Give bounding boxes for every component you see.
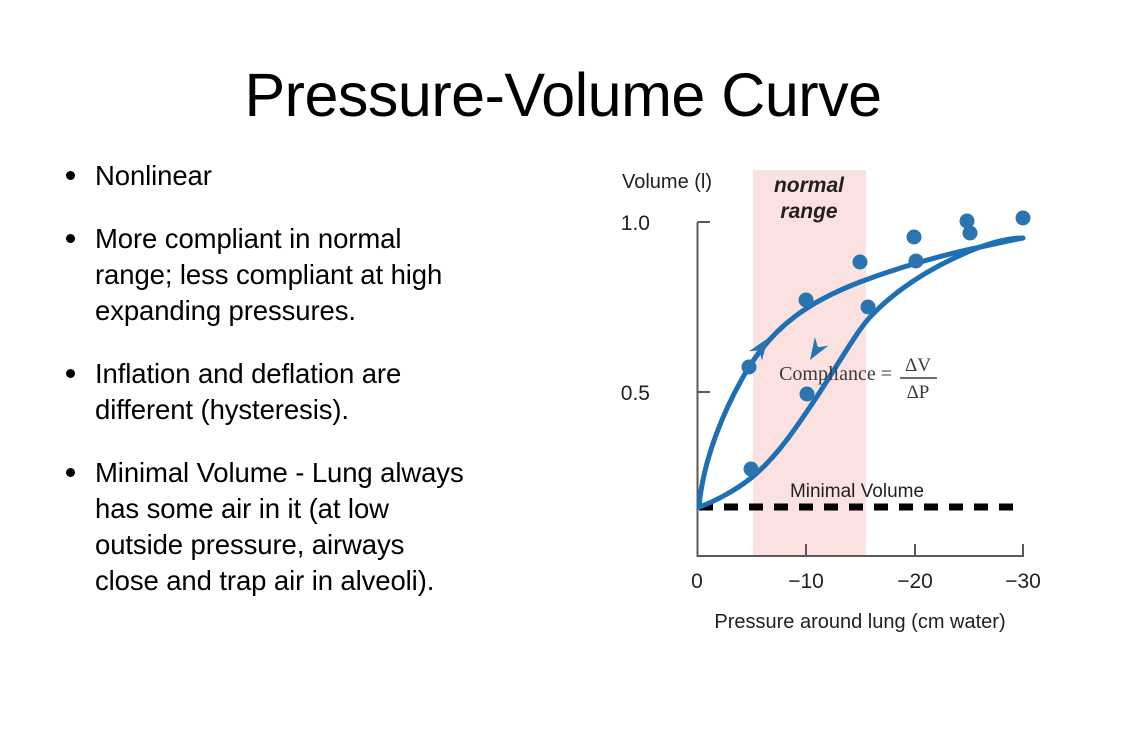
compliance-formula-numerator: ΔV: [905, 355, 931, 376]
data-point-inflation: [800, 387, 815, 402]
list-item: Inflation and deflation are different (h…: [66, 356, 566, 428]
data-point-shared-end: [1016, 211, 1031, 226]
bullet-text: Inflation and deflation are different (h…: [95, 356, 401, 428]
pressure-volume-chart: Volume (l) 1.0 0.5 0 −10 −20 −30 Pressur…: [600, 160, 1080, 650]
list-item: Nonlinear: [66, 158, 566, 194]
normal-range-label-line2: range: [780, 200, 838, 223]
bullet-dot-icon: [66, 369, 75, 378]
x-tick-label-minus30: −30: [1005, 570, 1041, 593]
data-point-deflation: [853, 255, 868, 270]
page-title: Pressure-Volume Curve: [0, 63, 1126, 127]
bullet-text: Nonlinear: [95, 158, 212, 194]
data-point-inflation: [909, 254, 924, 269]
bullet-text: Minimal Volume - Lung always has some ai…: [95, 455, 464, 599]
list-item: Minimal Volume - Lung always has some ai…: [66, 455, 566, 599]
compliance-formula-denominator: ΔP: [907, 382, 930, 403]
y-tick-label-1.0: 1.0: [621, 212, 650, 235]
data-point-inflation: [744, 462, 759, 477]
slide-canvas: Pressure-Volume Curve Nonlinear More com…: [0, 0, 1126, 736]
data-point-inflation: [963, 226, 978, 241]
y-tick-label-0.5: 0.5: [621, 382, 650, 405]
y-axis-label: Volume (l): [622, 171, 712, 193]
bullet-list: Nonlinear More compliant in normal range…: [66, 158, 566, 626]
data-point-deflation: [799, 293, 814, 308]
data-point-deflation: [742, 360, 757, 375]
bullet-dot-icon: [66, 171, 75, 180]
bullet-text: More compliant in normal range; less com…: [95, 221, 442, 329]
x-axis-label: Pressure around lung (cm water): [714, 611, 1005, 633]
normal-range-label-line1: normal: [774, 174, 845, 197]
bullet-dot-icon: [66, 234, 75, 243]
compliance-formula-lhs: Compliance =: [779, 363, 892, 385]
bullet-dot-icon: [66, 468, 75, 477]
list-item: More compliant in normal range; less com…: [66, 221, 566, 329]
x-tick-label-minus10: −10: [788, 570, 824, 593]
data-point-deflation: [907, 230, 922, 245]
data-point-inflation: [861, 300, 876, 315]
x-tick-label-minus20: −20: [897, 570, 933, 593]
minimal-volume-label: Minimal Volume: [790, 481, 924, 502]
x-tick-label-0: 0: [691, 570, 703, 593]
